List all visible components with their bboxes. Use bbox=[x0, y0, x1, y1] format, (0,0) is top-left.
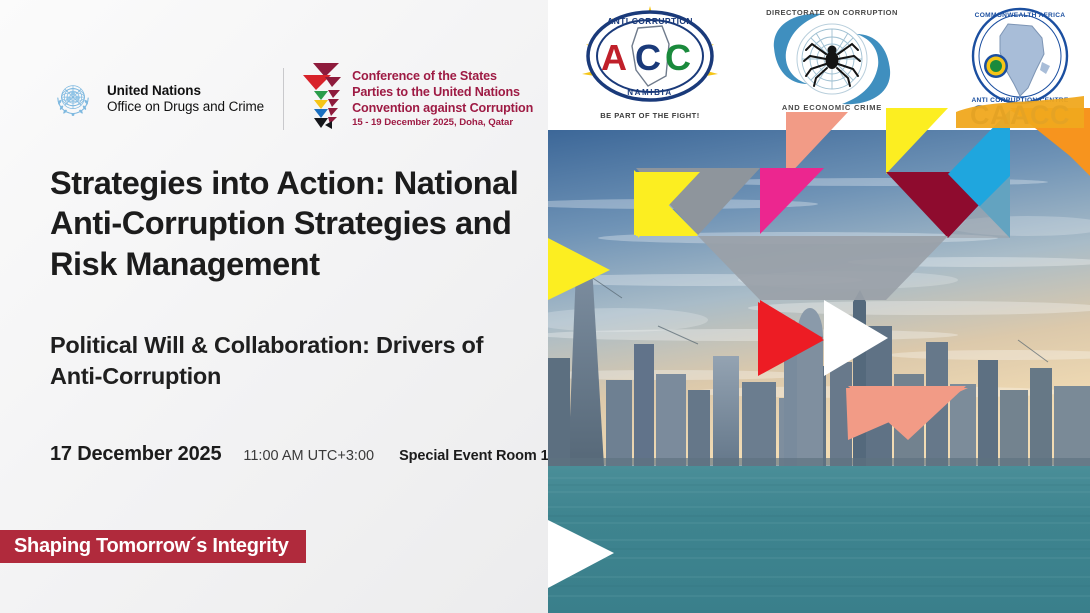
unodc-logo-text: United Nations Office on Drugs and Crime bbox=[107, 83, 264, 116]
cosp-logo: Conference of the States Parties to the … bbox=[301, 61, 533, 137]
doha-skyline-photo bbox=[548, 130, 1090, 613]
acc-namibia-logo: ANTI-CORRUPTION NAMIBIA A C C BE PART OF… bbox=[570, 4, 730, 126]
cosp-dates-venue: 15 - 19 December 2025, Doha, Qatar bbox=[352, 116, 533, 130]
svg-text:COMMONWEALTH AFRICA: COMMONWEALTH AFRICA bbox=[975, 12, 1066, 19]
svg-text:C: C bbox=[665, 37, 691, 78]
event-date: 17 December 2025 bbox=[50, 443, 221, 466]
svg-text:NAMIBIA: NAMIBIA bbox=[627, 88, 672, 97]
unodc-line-2: Office on Drugs and Crime bbox=[107, 99, 264, 115]
svg-text:DIRECTORATE ON CORRUPTION: DIRECTORATE ON CORRUPTION bbox=[766, 8, 898, 17]
tagline-text: Shaping Tomorrow´s Integrity bbox=[14, 535, 289, 558]
event-room: Special Event Room 1 bbox=[399, 448, 548, 464]
page-title: Strategies into Action: National Anti-Co… bbox=[50, 163, 525, 284]
unodc-line-1: United Nations bbox=[107, 83, 264, 99]
doha-skyline-illustration bbox=[548, 130, 1090, 613]
dcec-logo: DIRECTORATE ON CORRUPTION AND ECONOMIC C… bbox=[756, 6, 908, 114]
svg-text:AND ECONOMIC CRIME: AND ECONOMIC CRIME bbox=[782, 103, 882, 112]
right-visual-panel: ANTI-CORRUPTION NAMIBIA A C C BE PART OF… bbox=[548, 0, 1090, 613]
tagline-banner: Shaping Tomorrow´s Integrity bbox=[0, 530, 306, 563]
event-poster: United Nations Office on Drugs and Crime bbox=[0, 0, 1090, 613]
event-time: 11:00 AM UTC+3:00 bbox=[243, 448, 374, 464]
caacc-logo: COMMONWEALTH AFRICA ANTI CORRUPTION CENT… bbox=[956, 4, 1084, 128]
cosp-line-3: Convention against Corruption bbox=[352, 100, 533, 116]
svg-text:A: A bbox=[601, 37, 627, 78]
logo-divider bbox=[283, 68, 284, 130]
organisation-logo-row: United Nations Office on Drugs and Crime bbox=[50, 58, 520, 140]
cosp-line-1: Conference of the States bbox=[352, 68, 533, 84]
unodc-logo: United Nations Office on Drugs and Crime bbox=[50, 76, 264, 122]
event-subtitle: Political Will & Collaboration: Drivers … bbox=[50, 330, 537, 393]
cosp-logo-text: Conference of the States Parties to the … bbox=[352, 68, 533, 131]
cosp-line-2: Parties to the United Nations bbox=[352, 84, 533, 100]
partner-logo-row: ANTI-CORRUPTION NAMIBIA A C C BE PART OF… bbox=[548, 0, 1090, 132]
svg-text:C: C bbox=[635, 37, 661, 78]
cosp-triangles-mark bbox=[301, 61, 343, 137]
united-nations-emblem bbox=[50, 76, 96, 122]
left-info-panel: United Nations Office on Drugs and Crime bbox=[0, 0, 548, 613]
event-meta: 17 December 2025 11:00 AM UTC+3:00 Speci… bbox=[50, 443, 548, 466]
svg-text:ANTI-CORRUPTION: ANTI-CORRUPTION bbox=[607, 16, 693, 26]
svg-text:BE PART OF THE FIGHT!: BE PART OF THE FIGHT! bbox=[600, 111, 700, 120]
